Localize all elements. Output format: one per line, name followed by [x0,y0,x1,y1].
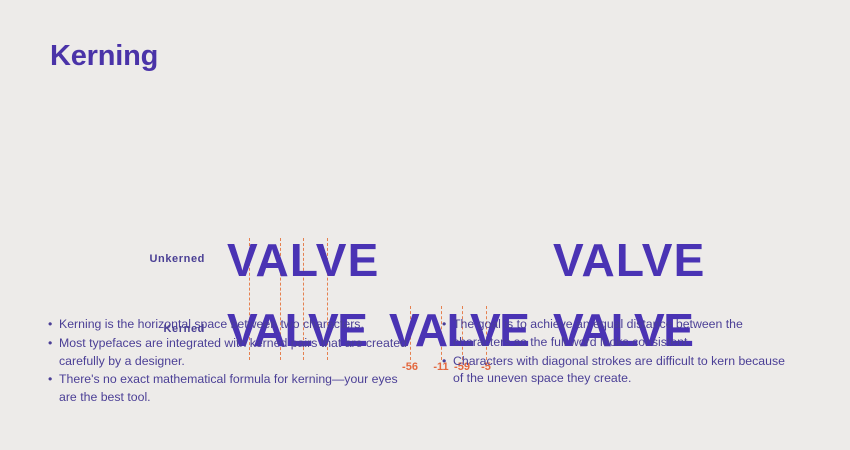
valve-word-left-unkerned: VALVE [227,237,380,283]
list-item: • Characters with diagonal strokes are d… [442,353,787,389]
bullet-dot-icon: • [442,353,453,371]
bullet-text: Characters with diagonal strokes are dif… [453,353,787,389]
bullet-list-left: • Kerning is the horizontal space betwee… [48,316,408,408]
bullet-text: Most typefaces are integrated with kerne… [59,335,408,371]
page-title: Kerning [50,42,158,71]
slide-canvas: Kerning Unkerned Kerned VALVE VALVE VALV… [0,0,850,450]
bullet-text: The goal is to achieve an equal distance… [453,316,787,352]
bullet-dot-icon: • [442,316,453,334]
kerning-demo-area: Unkerned Kerned VALVE VALVE VALVE VALVE … [0,110,850,280]
bullet-dot-icon: • [48,371,59,389]
bullet-text: There's no exact mathematical formula fo… [59,371,408,407]
bullet-text: Kerning is the horizontal space between … [59,316,408,334]
list-item: • There's no exact mathematical formula … [48,371,408,407]
bullet-list-right: • The goal is to achieve an equal distan… [442,316,787,389]
bullet-dot-icon: • [48,335,59,353]
list-item: • Kerning is the horizontal space betwee… [48,316,408,334]
valve-word-right-unkerned: VALVE [553,237,706,283]
row-label-unkerned: Unkerned [95,253,205,265]
list-item: • The goal is to achieve an equal distan… [442,316,787,352]
list-item: • Most typefaces are integrated with ker… [48,335,408,371]
bullet-dot-icon: • [48,316,59,334]
